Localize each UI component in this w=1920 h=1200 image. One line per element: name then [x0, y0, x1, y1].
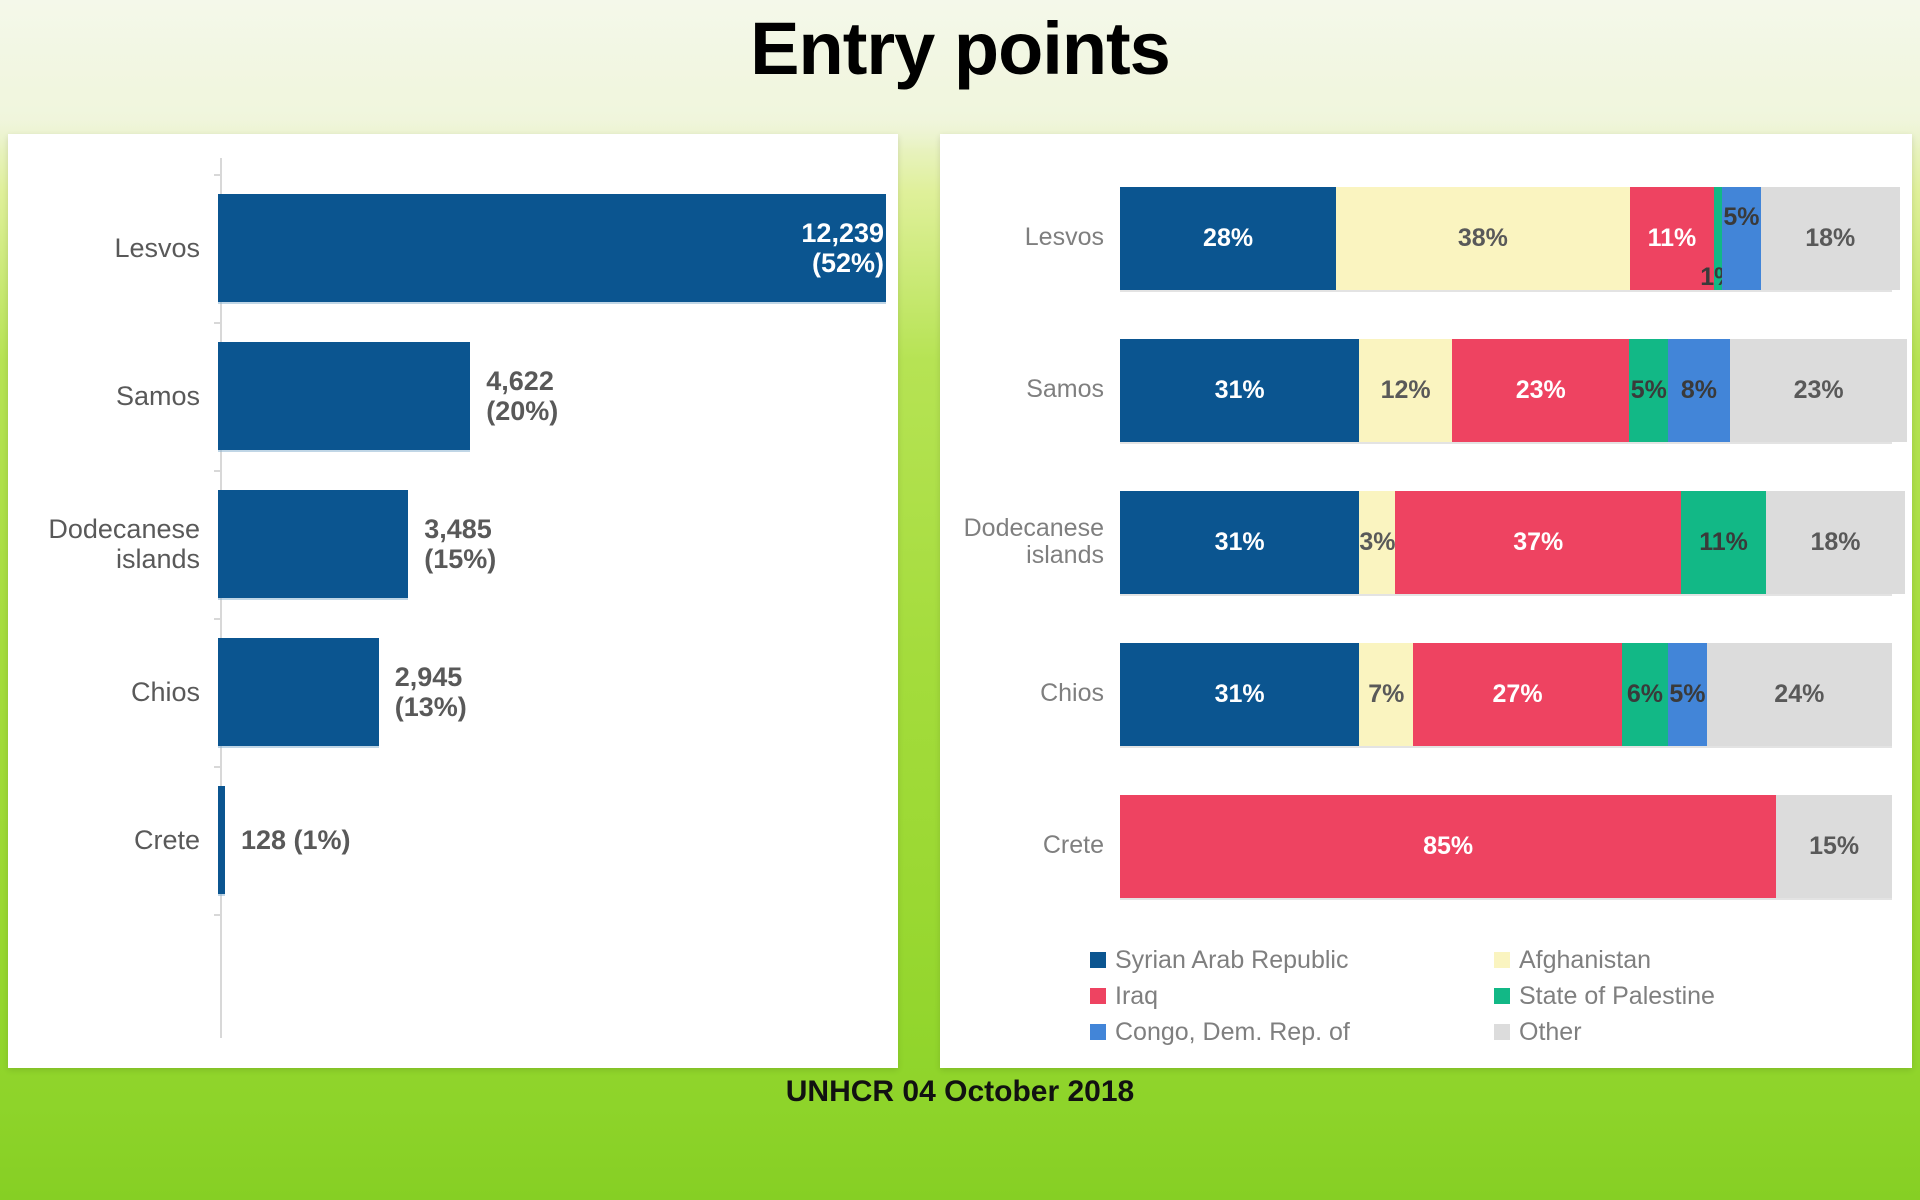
- nationality-segment: 5%: [1668, 643, 1707, 746]
- legend-label: Iraq: [1115, 984, 1158, 1009]
- nationality-segment: 11%: [1681, 491, 1766, 594]
- nationality-segment: 28%: [1120, 187, 1336, 290]
- nationality-segment: 31%: [1120, 339, 1359, 442]
- legend-label: Afghanistan: [1519, 948, 1651, 973]
- legend-item[interactable]: Iraq: [1090, 978, 1476, 1014]
- nationality-bar-row: Samos31%12%23%5%8%23%: [940, 314, 1912, 466]
- arrivals-value-label: 2,945 (13%): [395, 662, 467, 722]
- nationality-bar-row: Chios31%7%27%6%5%24%: [940, 618, 1912, 770]
- nationality-segment-label: 12%: [1381, 376, 1431, 405]
- nationality-segment-label: 5%: [1723, 203, 1759, 232]
- nationality-segment: 18%: [1766, 491, 1905, 594]
- arrivals-bar-track: 4,622 (20%): [218, 322, 898, 470]
- nationality-segment-label: 31%: [1215, 528, 1265, 557]
- nationality-segment-label: 31%: [1215, 376, 1265, 405]
- arrivals-category-label: Chios: [8, 677, 218, 707]
- nationality-stack: 28%38%11%1%5%18%: [1120, 187, 1892, 290]
- arrivals-bar: 12,239 (52%): [218, 194, 886, 302]
- nationality-segment: 6%: [1622, 643, 1668, 746]
- arrivals-bar-track: 128 (1%): [218, 766, 898, 914]
- nationality-segment-label: 15%: [1809, 832, 1859, 861]
- nationality-segment-label: 37%: [1513, 528, 1563, 557]
- nationality-segment-label: 7%: [1368, 680, 1404, 709]
- nationality-segment-label: 85%: [1423, 832, 1473, 861]
- nationality-category-label: Lesvos: [940, 224, 1120, 252]
- nationality-segment: 1%: [1714, 187, 1722, 290]
- nationality-segment: 23%: [1452, 339, 1630, 442]
- legend-item[interactable]: Congo, Dem. Rep. of: [1090, 1014, 1476, 1050]
- legend-swatch-icon: [1090, 988, 1106, 1004]
- nationality-segment: 3%: [1359, 491, 1395, 594]
- arrivals-bar-track: 2,945 (13%): [218, 618, 898, 766]
- nationality-segment-label: 5%: [1669, 680, 1705, 709]
- arrivals-category-label: Samos: [8, 381, 218, 411]
- nationality-segment-label: 8%: [1681, 376, 1717, 405]
- page-title: Entry points: [0, 10, 1920, 88]
- arrivals-value-label: 128 (1%): [241, 825, 351, 855]
- nationality-segment-label: 11%: [1699, 528, 1748, 557]
- nationality-segment-label: 23%: [1516, 376, 1566, 405]
- nationality-segment: 24%: [1707, 643, 1892, 746]
- nationality-bar-row: Dodecanese islands31%3%37%11%18%: [940, 466, 1912, 618]
- nationality-category-label: Dodecanese islands: [940, 515, 1120, 570]
- nationality-segment-label: 3%: [1359, 528, 1395, 557]
- nationality-segment: 7%: [1359, 643, 1413, 746]
- nationality-segment-label: 6%: [1627, 680, 1663, 709]
- nationality-stack: 31%12%23%5%8%23%: [1120, 339, 1892, 442]
- arrivals-bar: [218, 638, 379, 746]
- arrivals-bar: [218, 490, 408, 598]
- nationality-stack: 31%3%37%11%18%: [1120, 491, 1892, 594]
- nationality-segment-label: 18%: [1805, 224, 1855, 253]
- axis-tick: [214, 914, 222, 916]
- legend-label: Other: [1519, 1020, 1582, 1045]
- nationality-category-label: Chios: [940, 680, 1120, 708]
- nationality-segment-label: 28%: [1203, 224, 1253, 253]
- arrivals-bar-row: Chios2,945 (13%): [8, 618, 898, 766]
- nationality-segment-label: 24%: [1774, 680, 1824, 709]
- arrivals-category-label: Lesvos: [8, 233, 218, 263]
- legend-item[interactable]: Afghanistan: [1494, 942, 1880, 978]
- nationality-segment-label: 5%: [1631, 376, 1667, 405]
- nationality-segment-label: 23%: [1794, 376, 1844, 405]
- legend-swatch-icon: [1494, 988, 1510, 1004]
- nationality-chart-panel: Lesvos28%38%11%1%5%18%Samos31%12%23%5%8%…: [940, 134, 1912, 1068]
- legend-swatch-icon: [1090, 952, 1106, 968]
- chart-legend: Syrian Arab RepublicAfghanistanIraqState…: [1090, 942, 1880, 1050]
- nationality-segment: 5%: [1722, 187, 1761, 290]
- nationality-segment: 37%: [1395, 491, 1681, 594]
- nationality-segment-label: 31%: [1215, 680, 1265, 709]
- arrivals-category-label: Crete: [8, 825, 218, 855]
- arrivals-chart-panel: Lesvos12,239 (52%)Samos4,622 (20%)Dodeca…: [8, 134, 898, 1068]
- legend-swatch-icon: [1494, 952, 1510, 968]
- arrivals-bar-row: Dodecanese islands3,485 (15%): [8, 470, 898, 618]
- nationality-segment: 18%: [1761, 187, 1900, 290]
- nationality-segment: 31%: [1120, 491, 1359, 594]
- nationality-segment-label: 27%: [1493, 680, 1543, 709]
- nationality-stack: 85%15%: [1120, 795, 1892, 898]
- nationality-segment: 8%: [1668, 339, 1730, 442]
- nationality-bar-row: Lesvos28%38%11%1%5%18%: [940, 162, 1912, 314]
- nationality-segment: 31%: [1120, 643, 1359, 746]
- arrivals-value-label: 12,239 (52%): [801, 218, 884, 278]
- arrivals-bar: [218, 786, 225, 894]
- nationality-segment: 23%: [1730, 339, 1908, 442]
- arrivals-bar-row: Lesvos12,239 (52%): [8, 174, 898, 322]
- nationality-segment: 27%: [1413, 643, 1621, 746]
- arrivals-category-label: Dodecanese islands: [8, 514, 218, 574]
- arrivals-value-label: 4,622 (20%): [486, 366, 558, 426]
- legend-label: Syrian Arab Republic: [1115, 948, 1348, 973]
- nationality-stacked-bar-chart: Lesvos28%38%11%1%5%18%Samos31%12%23%5%8%…: [940, 134, 1912, 1068]
- arrivals-bar-row: Crete128 (1%): [8, 766, 898, 914]
- legend-label: Congo, Dem. Rep. of: [1115, 1020, 1350, 1045]
- slide-canvas: Entry points Lesvos12,239 (52%)Samos4,62…: [0, 0, 1920, 1200]
- legend-label: State of Palestine: [1519, 984, 1715, 1009]
- nationality-segment-label: 11%: [1648, 224, 1697, 253]
- legend-item[interactable]: State of Palestine: [1494, 978, 1880, 1014]
- nationality-bar-row: Crete85%15%: [940, 770, 1912, 922]
- nationality-category-label: Samos: [940, 376, 1120, 404]
- legend-item[interactable]: Syrian Arab Republic: [1090, 942, 1476, 978]
- arrivals-bar-track: 12,239 (52%): [218, 174, 898, 322]
- arrivals-bar-chart: Lesvos12,239 (52%)Samos4,622 (20%)Dodeca…: [8, 134, 898, 1068]
- arrivals-bar-track: 3,485 (15%): [218, 470, 898, 618]
- nationality-segment: 12%: [1359, 339, 1452, 442]
- nationality-segment-label: 18%: [1810, 528, 1860, 557]
- nationality-stack: 31%7%27%6%5%24%: [1120, 643, 1892, 746]
- nationality-segment: 38%: [1336, 187, 1629, 290]
- nationality-category-label: Crete: [940, 832, 1120, 860]
- arrivals-bar-row: Samos4,622 (20%): [8, 322, 898, 470]
- nationality-segment: 15%: [1776, 795, 1892, 898]
- arrivals-value-label: 3,485 (15%): [424, 514, 496, 574]
- legend-item[interactable]: Other: [1494, 1014, 1880, 1050]
- legend-swatch-icon: [1494, 1024, 1510, 1040]
- nationality-segment: 85%: [1120, 795, 1776, 898]
- nationality-segment-label: 38%: [1458, 224, 1508, 253]
- arrivals-bar: [218, 342, 470, 450]
- legend-swatch-icon: [1090, 1024, 1106, 1040]
- source-footer: UNHCR 04 October 2018: [0, 1075, 1920, 1109]
- nationality-segment: 5%: [1629, 339, 1668, 442]
